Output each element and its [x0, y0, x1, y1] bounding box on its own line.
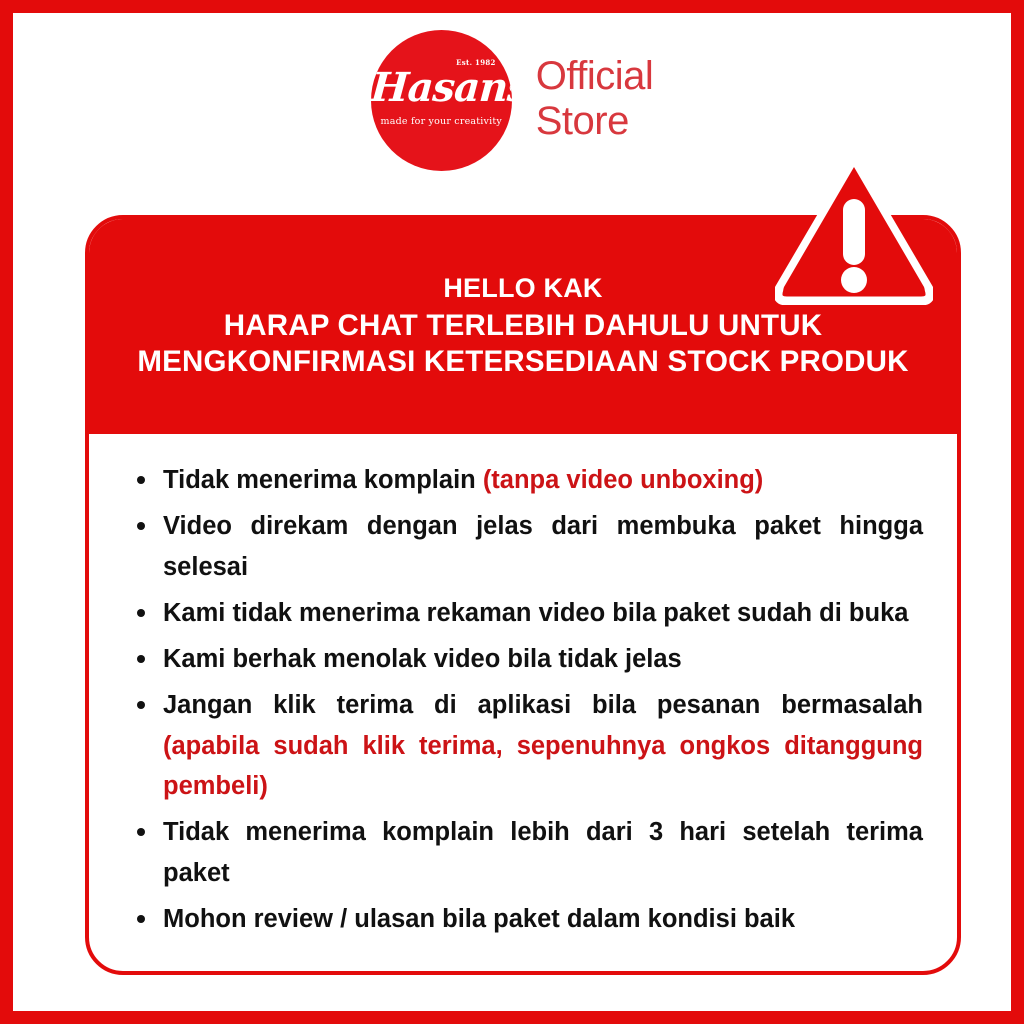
banner-line-2: HARAP CHAT TERLEBIH DAHULU UNTUK: [224, 308, 823, 344]
rule-text: Mohon review / ulasan bila paket dalam k…: [163, 905, 795, 933]
rule-item: Mohon review / ulasan bila paket dalam k…: [129, 899, 923, 939]
rule-text: Jangan klik terima di aplikasi bila pesa…: [163, 691, 923, 719]
rule-item: Video direkam dengan jelas dari membuka …: [129, 506, 923, 587]
banner-line-3: MENGKONFIRMASI KETERSEDIAAN STOCK PRODUK: [137, 344, 908, 380]
rule-item: Kami berhak menolak video bila tidak jel…: [129, 639, 923, 679]
notice-card: HELLO KAK HARAP CHAT TERLEBIH DAHULU UNT…: [85, 215, 961, 975]
rule-item: Jangan klik terima di aplikasi bila pesa…: [129, 685, 923, 806]
logo-tagline: made for your creativity: [371, 116, 512, 127]
rule-text: Tidak menerima komplain: [163, 466, 483, 494]
rule-text: Tidak menerima komplain lebih dari 3 har…: [163, 818, 923, 886]
hasans-logo: Est. 1982 Hasans made for your creativit…: [371, 30, 512, 171]
brand-header: Est. 1982 Hasans made for your creativit…: [13, 25, 1011, 175]
rule-text: Kami berhak menolak video bila tidak jel…: [163, 645, 682, 673]
poster-root: Est. 1982 Hasans made for your creativit…: [0, 0, 1024, 1024]
banner-line-1: HELLO KAK: [443, 272, 602, 305]
rule-text: Video direkam dengan jelas dari membuka …: [163, 512, 923, 580]
rule-highlight-text: (tanpa video unboxing): [483, 466, 764, 494]
official-store-label: Official Store: [536, 54, 654, 146]
rule-item: Tidak menerima komplain lebih dari 3 har…: [129, 812, 923, 893]
rule-item: Tidak menerima komplain (tanpa video unb…: [129, 460, 923, 500]
rule-item: Kami tidak menerima rekaman video bila p…: [129, 593, 923, 633]
logo-wordmark: Hasans: [371, 68, 512, 108]
warning-triangle-icon: [775, 157, 933, 305]
rule-text: Kami tidak menerima rekaman video bila p…: [163, 599, 908, 627]
rules-list: Tidak menerima komplain (tanpa video unb…: [89, 434, 957, 939]
rule-highlight-text: (apabila sudah klik terima, sepenuhnya o…: [163, 732, 923, 800]
